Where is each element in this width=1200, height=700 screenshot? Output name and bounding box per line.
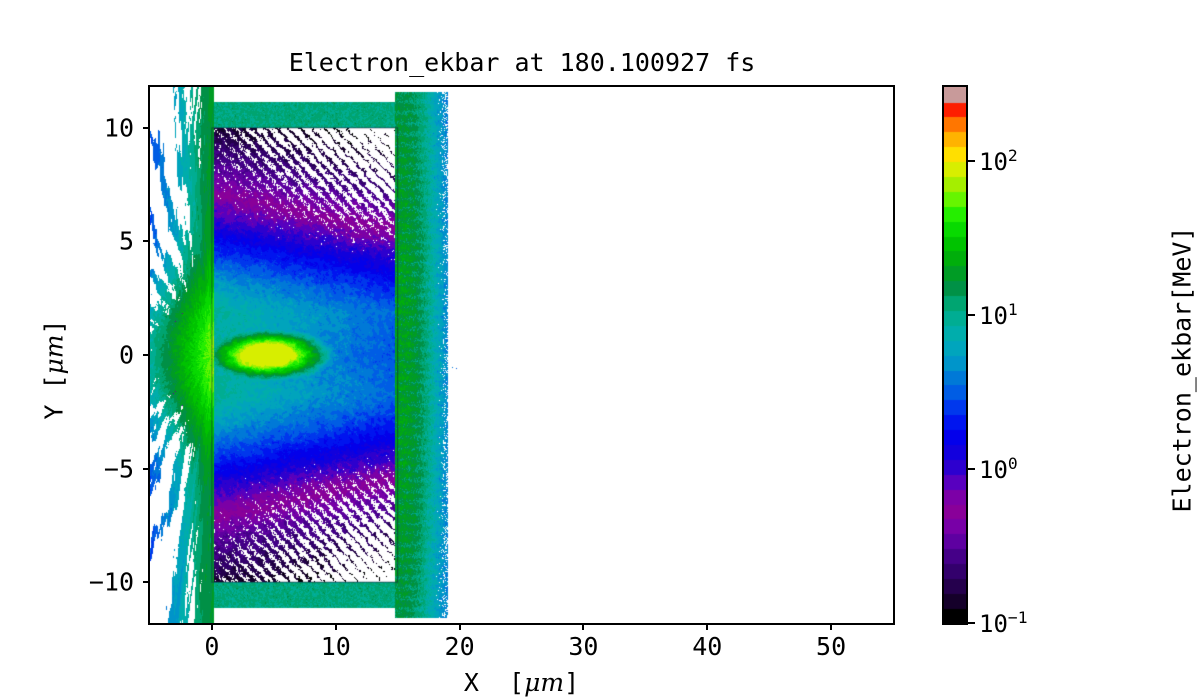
- colorbar-tick-label: 102: [979, 146, 1018, 176]
- x-tick-label: 10: [321, 632, 351, 661]
- x-tick-mark: [706, 623, 708, 630]
- plot-title: Electron_ekbar at 180.100927 fs: [148, 48, 896, 77]
- x-tick-mark: [335, 623, 337, 630]
- x-tick-mark: [830, 623, 832, 630]
- y-tick-mark: [143, 354, 150, 356]
- y-tick-mark: [143, 581, 150, 583]
- y-tick-label: 5: [0, 227, 134, 256]
- x-tick-label: 50: [816, 632, 846, 661]
- x-tick-label: 40: [692, 632, 722, 661]
- y-axis-label: Y [μm]: [40, 270, 69, 470]
- x-tick-mark: [459, 623, 461, 630]
- colorbar-tick-mark: [968, 160, 975, 162]
- colorbar-tick-label: 100: [979, 454, 1018, 484]
- y-tick-mark: [143, 240, 150, 242]
- colorbar-canvas: [944, 87, 966, 623]
- x-tick-label: 30: [568, 632, 598, 661]
- y-tick-label: −10: [0, 568, 134, 597]
- colorbar-tick-mark: [968, 468, 975, 470]
- colorbar: [942, 85, 968, 625]
- colorbar-tick-label: 101: [979, 300, 1018, 330]
- heatmap-canvas: [150, 87, 893, 623]
- x-tick-label: 0: [204, 632, 219, 661]
- y-tick-mark: [143, 468, 150, 470]
- x-axis-label: X [μm]: [148, 668, 895, 697]
- y-tick-label: 10: [0, 113, 134, 142]
- x-tick-mark: [211, 623, 213, 630]
- colorbar-label: Electron_ekbar[MeV]: [1168, 140, 1197, 600]
- colorbar-tick-label: 10−1: [979, 608, 1028, 638]
- y-tick-mark: [143, 127, 150, 129]
- x-tick-label: 20: [445, 632, 475, 661]
- plot-axes: [148, 85, 895, 625]
- colorbar-tick-mark: [968, 314, 975, 316]
- figure-root: Electron_ekbar at 180.100927 fs 01020304…: [0, 0, 1200, 700]
- colorbar-tick-mark: [968, 622, 975, 624]
- x-tick-mark: [582, 623, 584, 630]
